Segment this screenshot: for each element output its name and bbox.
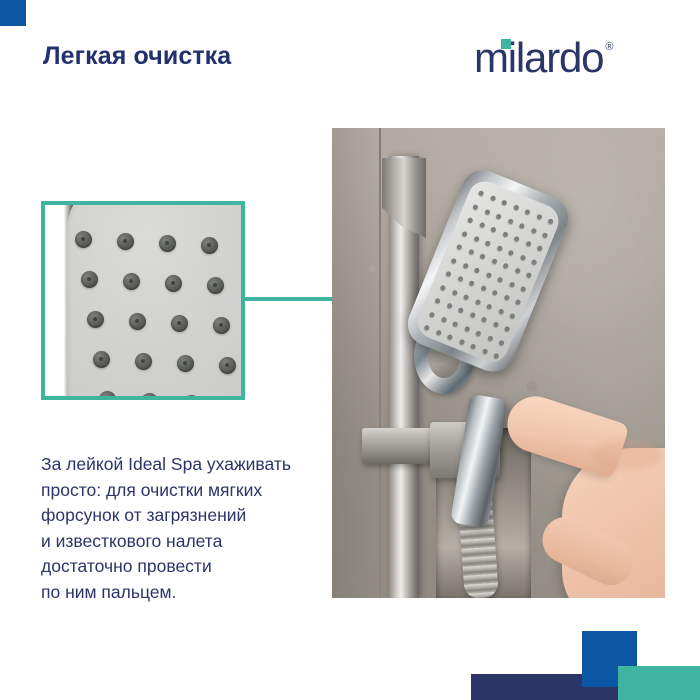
spray-plate-nozzle [486, 303, 493, 310]
spray-plate-nozzle [504, 326, 511, 333]
spray-plate-nozzle [493, 353, 500, 360]
spray-plate-nozzle [435, 329, 442, 336]
hand-knuckle-shading [592, 440, 662, 470]
spray-plate-nozzle [514, 267, 521, 274]
spray-plate-nozzle [496, 213, 503, 220]
brand-logo-text: milardo [474, 36, 603, 80]
nozzle [87, 311, 104, 328]
nozzle [207, 277, 224, 294]
nozzle [219, 357, 236, 374]
spray-plate-nozzle [473, 235, 480, 242]
nozzle [201, 237, 218, 254]
spray-plate-nozzle [485, 271, 492, 278]
spray-plate-nozzle [451, 289, 458, 296]
spray-plate-nozzle [458, 338, 465, 345]
spray-plate-nozzle [530, 227, 537, 234]
spray-plate-nozzle [515, 299, 522, 306]
spray-plate-nozzle [492, 289, 499, 296]
spray-plate-nozzle [475, 298, 482, 305]
nozzle [93, 351, 110, 368]
registered-trademark-symbol: ® [605, 42, 613, 53]
spray-plate-nozzle [472, 203, 479, 210]
spray-plate-nozzle [452, 320, 459, 327]
magnified-detail-box [41, 201, 245, 400]
spray-plate-nozzle [469, 312, 476, 319]
spray-plate-nozzle [470, 343, 477, 350]
nozzle [123, 273, 140, 290]
spray-plate-nozzle [424, 324, 431, 331]
nozzle [81, 271, 98, 288]
spray-plate-nozzle [513, 236, 520, 243]
spray-plate-nozzle [536, 213, 543, 220]
spray-plate-nozzle [485, 240, 492, 247]
spray-plate-nozzle [456, 244, 463, 251]
spray-plate-nozzle [479, 253, 486, 260]
spray-plate-nozzle [457, 275, 464, 282]
spray-plate-nozzle [531, 258, 538, 265]
spray-plate-nozzle [519, 222, 526, 229]
spray-plate-nozzle [503, 294, 510, 301]
nozzle [213, 317, 230, 334]
spray-plate-nozzle [542, 232, 549, 239]
spray-plate-nozzle [489, 195, 496, 202]
spray-plate-nozzle [490, 226, 497, 233]
spray-plate-nozzle [496, 244, 503, 251]
nozzle [117, 233, 134, 250]
spray-plate-nozzle [509, 281, 516, 288]
spray-plate-nozzle [525, 240, 532, 247]
spray-plate-nozzle [520, 285, 527, 292]
spray-plate-nozzle [526, 272, 533, 279]
nozzle [75, 231, 92, 248]
spray-plate-nozzle [502, 231, 509, 238]
spray-plate-nozzle [467, 217, 474, 224]
spray-plate-nozzle [501, 199, 508, 206]
spray-plate-nozzle [447, 334, 454, 341]
spray-plate-nozzle [445, 271, 452, 278]
spray-plate-nozzle [462, 262, 469, 269]
spray-plate-nozzle [478, 190, 485, 197]
spray-plate-nozzle [468, 248, 475, 255]
spray-plate-nozzle [484, 208, 491, 215]
infographic-slide: Легкая очистка milardo ® За лейкой Ideal… [0, 0, 700, 700]
decor-bottom-teal-square [618, 666, 700, 700]
spray-plate-nozzle [547, 218, 554, 225]
body-paragraph: За лейкой Ideal Spa ухаживать просто: дл… [41, 452, 331, 605]
nozzle [135, 353, 152, 370]
spray-plate-nozzle [441, 316, 448, 323]
spray-plate-nozzle [537, 245, 544, 252]
nozzle [165, 275, 182, 292]
spray-plate-nozzle [440, 284, 447, 291]
spray-plate-nozzle [451, 257, 458, 264]
spray-plate-nozzle [498, 308, 505, 315]
spray-plate-nozzle [509, 312, 516, 319]
spray-plate-nozzle [480, 285, 487, 292]
page-title: Легкая очистка [43, 42, 231, 71]
spray-plate-nozzle [524, 209, 531, 216]
spray-plate-nozzle [462, 230, 469, 237]
spray-plate-nozzle [492, 321, 499, 328]
decor-top-left-square [0, 0, 26, 26]
spray-plate-nozzle [463, 293, 470, 300]
product-photo [332, 128, 665, 598]
brand-logo: milardo ® [474, 36, 613, 80]
pointing-hand [504, 400, 665, 598]
spray-plate-nozzle [464, 325, 471, 332]
magnified-detail-image [45, 205, 241, 396]
spray-plate-nozzle [475, 330, 482, 337]
photo-wall-seam [379, 128, 381, 598]
nozzle [177, 355, 194, 372]
spray-plate-nozzle [429, 311, 436, 318]
spray-plate-nozzle [481, 348, 488, 355]
spray-plate-nozzle [520, 254, 527, 261]
spray-plate-nozzle [507, 217, 514, 224]
spray-plate-nozzle [479, 222, 486, 229]
nozzle [129, 313, 146, 330]
spray-plate-nozzle [474, 267, 481, 274]
spray-plate-nozzle [502, 263, 509, 270]
spray-plate-nozzle [508, 249, 515, 256]
spray-plate-nozzle [458, 307, 465, 314]
spray-plate-nozzle [481, 316, 488, 323]
spray-plate-nozzle [491, 258, 498, 265]
spray-plate-nozzle [497, 276, 504, 283]
shower-head-face-surface [67, 205, 241, 396]
spray-plate-nozzle [446, 302, 453, 309]
photo-wall-panel-shadow [332, 128, 380, 598]
nozzle [159, 235, 176, 252]
spray-plate-nozzle [434, 298, 441, 305]
spray-plate-nozzle [487, 334, 494, 341]
spray-plate-nozzle [499, 339, 506, 346]
spray-plate-nozzle [468, 280, 475, 287]
spray-plate-nozzle [513, 204, 520, 211]
nozzle [171, 315, 188, 332]
logo-accent-dot-icon [501, 39, 511, 49]
